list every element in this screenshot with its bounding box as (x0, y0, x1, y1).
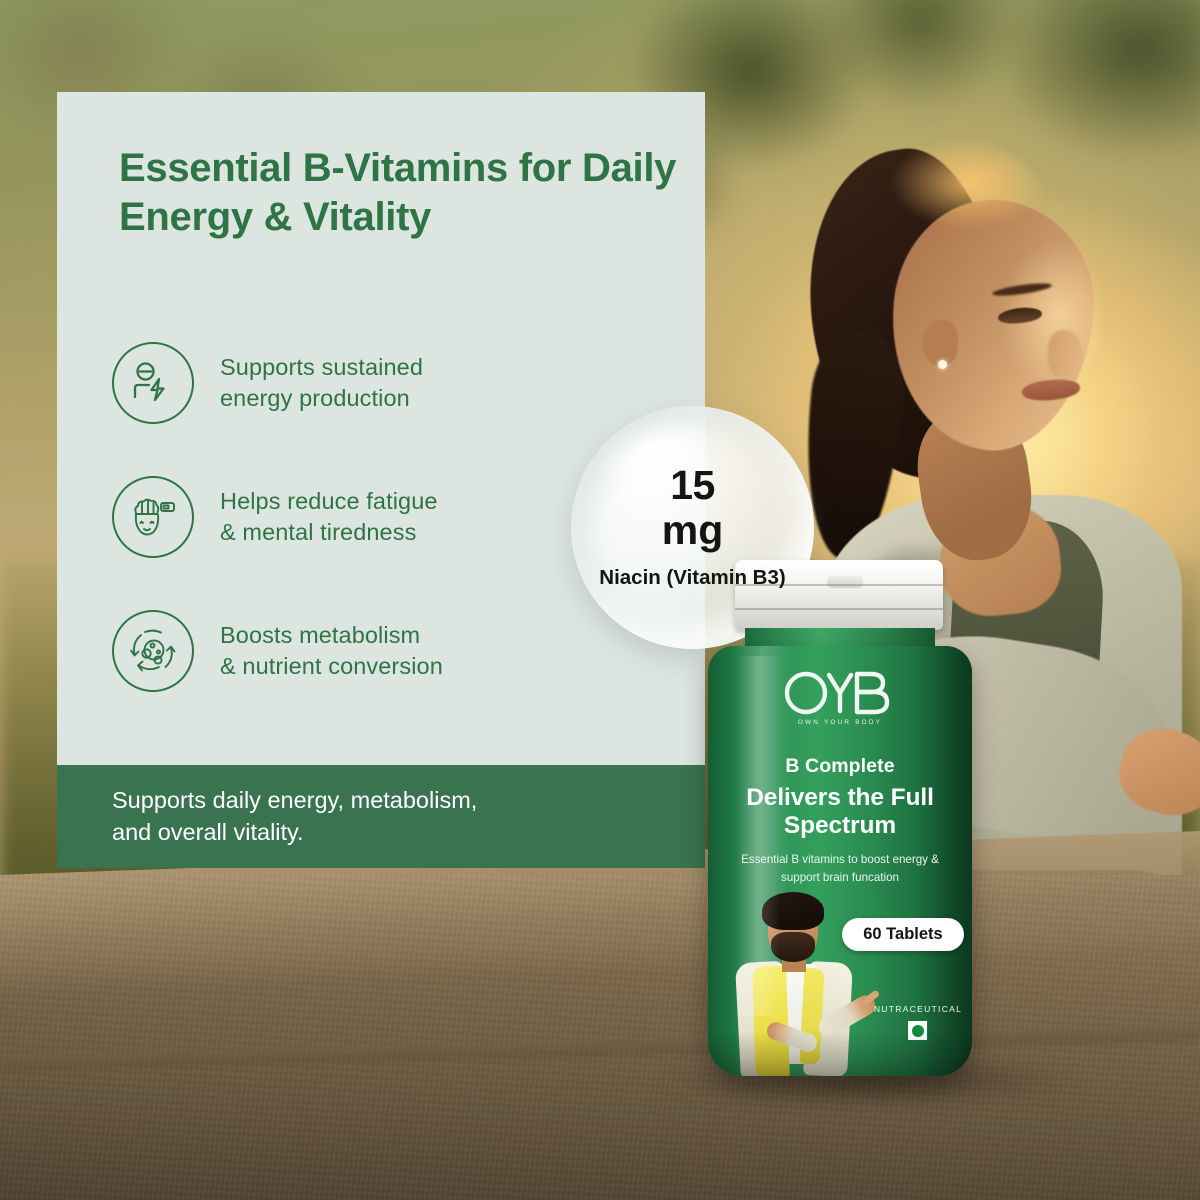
pill-energy-icon (112, 342, 194, 424)
model-beard (771, 932, 815, 962)
bottle-body-label: OWN YOUR BODY B Complete Delivers the Fu… (708, 646, 972, 1076)
cap-tab (827, 576, 863, 588)
benefit-item-metabolism: Boosts metabolism & nutrient conversion (112, 600, 682, 702)
tablet-count-badge: 60 Tablets (842, 918, 964, 951)
info-card: Essential B-Vitamins for Daily Energy & … (57, 92, 705, 765)
model-hair (762, 892, 824, 930)
footer-claim-bar: Supports daily energy, metabolism, and o… (57, 765, 705, 868)
product-description: Essential B vitamins to boost energy & s… (722, 851, 958, 886)
product-bottle: OWN YOUR BODY B Complete Delivers the Fu… (700, 560, 980, 1085)
dose-amount: 15 (670, 465, 715, 507)
dose-nutrient-name: Niacin (Vitamin B3) (599, 566, 785, 590)
cap-ridge (735, 608, 943, 610)
benefit-item-energy: Supports sustained energy production (112, 332, 682, 434)
bottle-base-shadow (708, 1030, 972, 1076)
product-headline: Delivers the Full Spectrum (708, 784, 972, 841)
brand-logo-block: OWN YOUR BODY (708, 670, 972, 726)
benefit-label-fatigue: Helps reduce fatigue & mental tiredness (220, 486, 438, 549)
benefit-label-metabolism: Boosts metabolism & nutrient conversion (220, 620, 443, 683)
dose-unit: mg (662, 509, 724, 552)
tablet-count-label: 60 Tablets (863, 925, 942, 944)
model-hair-rimlight (840, 135, 1050, 305)
footer-claim-text: Supports daily energy, metabolism, and o… (112, 785, 477, 848)
page-title: Essential B-Vitamins for Daily Energy & … (119, 144, 679, 242)
model-earring (938, 360, 947, 369)
metabolism-cycle-icon (112, 610, 194, 692)
benefit-label-energy: Supports sustained energy production (220, 352, 423, 415)
oyb-logo-icon (782, 670, 898, 716)
model-ear (922, 320, 958, 366)
product-line-name: B Complete (708, 755, 972, 778)
brand-tagline: OWN YOUR BODY (798, 719, 882, 726)
nutraceutical-label: NUTRACEUTICAL (863, 1004, 972, 1014)
brain-battery-icon (112, 476, 194, 558)
